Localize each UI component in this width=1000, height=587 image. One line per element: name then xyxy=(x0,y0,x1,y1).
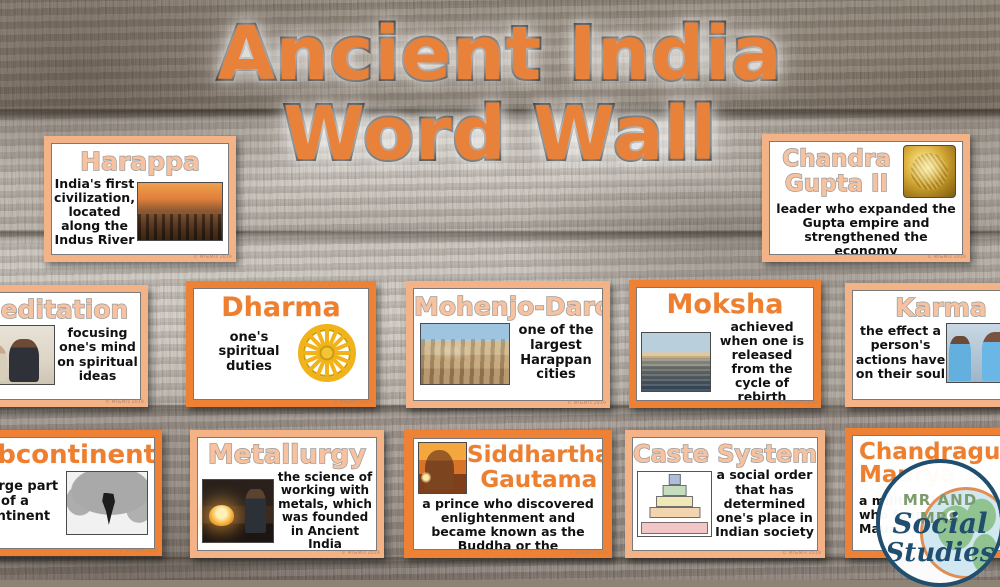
watermark-logo: MR AND MRS Social Studies xyxy=(876,459,1000,587)
copyright-note: © Mr&Mrs 2019 xyxy=(567,401,606,406)
card-definition: a large part of a continent xyxy=(0,480,66,524)
card-definition: focusing one's mind on spiritual ideas xyxy=(55,326,140,383)
copyright-note: © Mr&Mrs 2019 xyxy=(569,551,608,556)
card-term: Karma xyxy=(853,295,1000,321)
card-term: Subcontinent xyxy=(0,442,154,469)
card-definition: achieved when one is released from the c… xyxy=(711,320,813,401)
copyright-note: © Mr&Mrs 2019 xyxy=(927,255,966,260)
card-inner: Karma the effect a person's actions have… xyxy=(852,290,1000,400)
pyramid-tier-sudras xyxy=(649,507,700,518)
card-inner: Chandra Gupta II leader who expanded the… xyxy=(769,141,963,255)
card-image-gupta-gold-coin-photo xyxy=(903,145,956,198)
card-inner: Mohenjo-Daro one of the largest Harappan… xyxy=(413,288,603,401)
card-definition: a prince who discovered enlightenment an… xyxy=(414,497,602,550)
word-card-chandra-gupta-ii[interactable]: Chandra Gupta II leader who expanded the… xyxy=(762,134,970,262)
card-inner: Dharma one's spiritual duties xyxy=(193,288,369,400)
pyramid-tier-kshatriyas xyxy=(662,485,687,496)
word-card-dharma[interactable]: Dharma one's spiritual duties © Mr&Mrs 2… xyxy=(186,281,376,407)
card-definition: one of the largest Harappan cities xyxy=(510,324,602,383)
card-image-people-meditating-photo xyxy=(0,325,55,385)
card-definition: India's first civilization, located alon… xyxy=(52,177,137,248)
word-card-caste-system[interactable]: Caste System a social order that has det… xyxy=(625,430,825,558)
card-image-caste-pyramid-diagram xyxy=(637,471,712,537)
card-term: Mohenjo-Daro xyxy=(414,294,602,320)
word-card-moksha[interactable]: Moksha achieved when one is released fro… xyxy=(629,280,821,408)
word-card-metallurgy[interactable]: Metallurgy the science of working with m… xyxy=(190,430,384,558)
word-card-subcontinent[interactable]: Subcontinent a large part of a continent… xyxy=(0,430,162,556)
card-inner: Meditation focusing one's mind on spirit… xyxy=(0,292,141,400)
copyright-note: © Mr&Mrs 2019 xyxy=(119,549,158,554)
copyright-note: © Mr&Mrs 2019 xyxy=(341,551,380,556)
card-definition: leader who expanded the Gupta empire and… xyxy=(770,202,962,255)
word-card-harappa[interactable]: Harappa India's first civilization, loca… xyxy=(44,136,236,262)
word-card-karma[interactable]: Karma the effect a person's actions have… xyxy=(845,283,1000,407)
card-inner: Subcontinent a large part of a continent xyxy=(0,437,155,549)
dharma-wheel-icon xyxy=(298,324,356,382)
copyright-note: © Mr&Mrs 2019 xyxy=(778,401,817,406)
card-term: Moksha xyxy=(637,291,813,319)
card-image-mohenjo-daro-ruins-photo xyxy=(420,323,510,385)
card-definition: a social order that has determined one's… xyxy=(712,468,817,539)
pyramid-tier-vaishyas xyxy=(656,496,694,507)
card-inner: Metallurgy the science of working with m… xyxy=(197,437,377,551)
copyright-note: © Mr&Mrs 2019 xyxy=(333,400,372,405)
card-term: Harappa xyxy=(52,149,228,175)
word-card-meditation[interactable]: Meditation focusing one's mind on spirit… xyxy=(0,285,148,407)
card-term: Caste System xyxy=(633,442,817,466)
copyright-note: © Mr&Mrs 2019 xyxy=(782,551,821,556)
card-image-river-ghat-photo xyxy=(641,332,711,392)
card-definition: the science of working with metals, whic… xyxy=(274,471,376,551)
card-term: Meditation xyxy=(0,297,140,323)
pyramid-base-untouchables xyxy=(641,522,708,534)
card-image-buddha-statue-photo xyxy=(418,442,467,494)
copyright-note: © Mr&Mrs 2019 xyxy=(105,400,144,405)
card-inner: Harappa India's first civilization, loca… xyxy=(51,143,229,255)
word-card-mohenjo-daro[interactable]: Mohenjo-Daro one of the largest Harappan… xyxy=(406,281,610,408)
card-term: Metallurgy xyxy=(198,442,376,469)
card-inner: Moksha achieved when one is released fro… xyxy=(636,287,814,401)
copyright-note: © Mr&Mrs 2019 xyxy=(193,255,232,260)
card-term: Chandra Gupta II xyxy=(770,147,903,197)
pyramid-tier-brahmins xyxy=(668,474,680,485)
card-inner: Caste System a social order that has det… xyxy=(632,437,818,551)
card-term: Dharma xyxy=(194,294,368,322)
card-image-india-map-graphic xyxy=(66,471,148,535)
card-image-molten-metal-foundry-photo xyxy=(202,479,274,543)
card-inner: Siddhartha Gautama a prince who discover… xyxy=(413,438,603,550)
card-definition: the effect a person's actions have on th… xyxy=(853,324,946,381)
card-image-harappa-ruins-photo xyxy=(137,182,223,241)
card-definition: one's spiritual duties xyxy=(194,331,298,375)
logo-line-2: Social xyxy=(880,509,1000,539)
card-term: Siddhartha Gautama xyxy=(467,443,603,493)
logo-line-3: Studies xyxy=(880,539,1000,567)
card-image-volunteers-photo xyxy=(946,323,1000,383)
word-card-siddhartha-gautama[interactable]: Siddhartha Gautama a prince who discover… xyxy=(404,430,612,558)
